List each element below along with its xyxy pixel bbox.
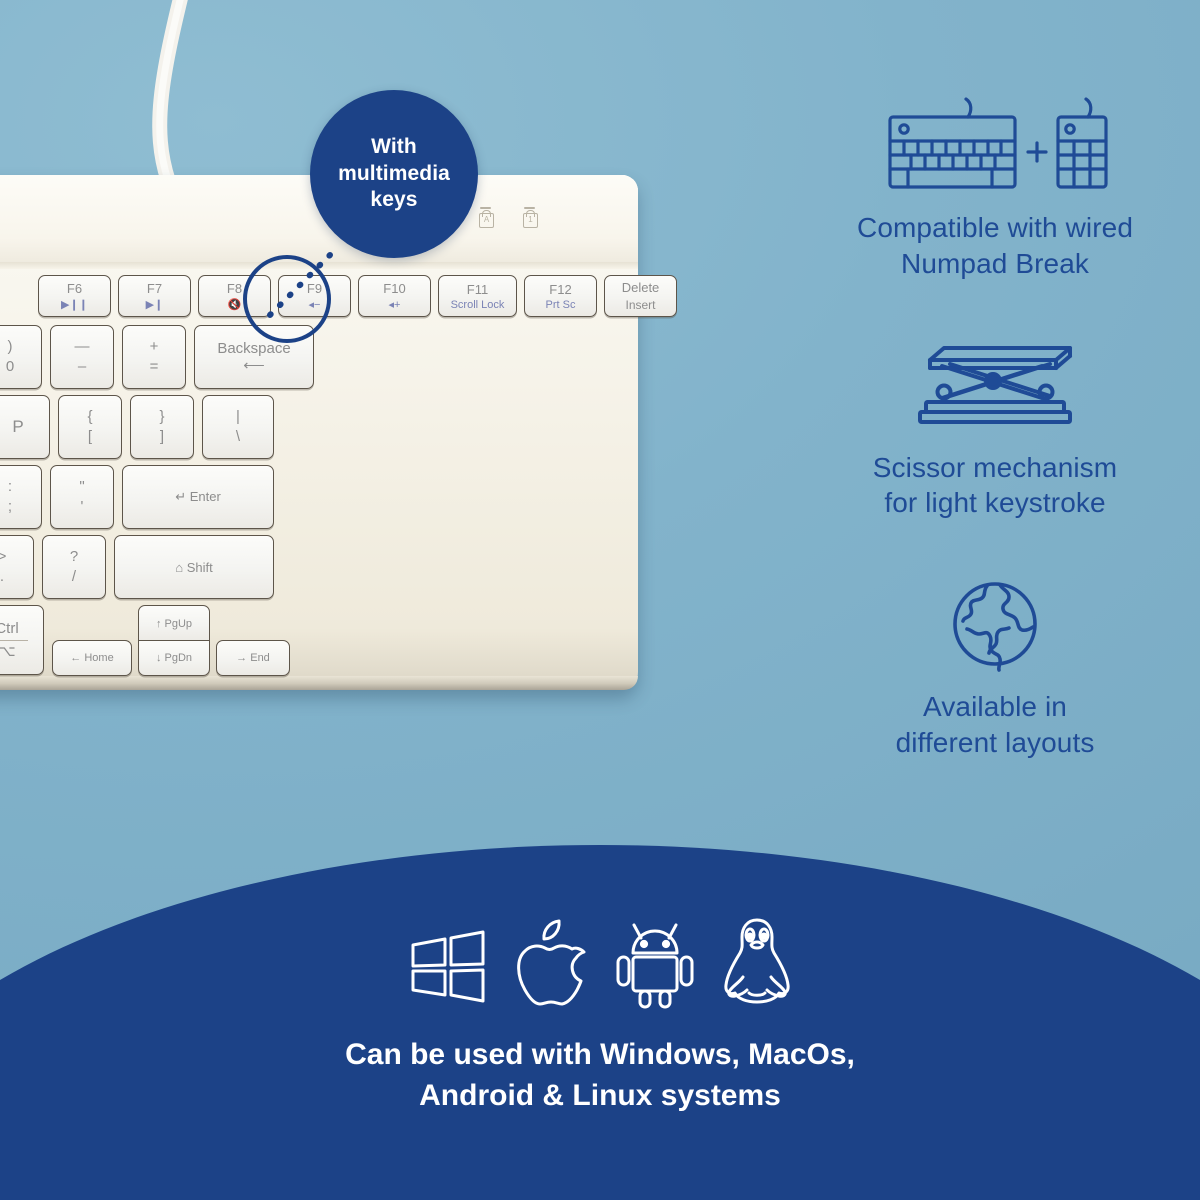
key-brace-right: } [159, 408, 164, 425]
windows-icon [405, 923, 491, 1009]
feature-2-line-2: for light keystroke [884, 487, 1105, 518]
key-equals-bottom: = [150, 358, 159, 375]
key-apostrophe-label: ' [81, 498, 84, 515]
key-pgdn[interactable]: ↓ PgDn [138, 640, 210, 676]
key-shift-label: ⌂ Shift [175, 560, 212, 575]
key-p[interactable]: P [0, 395, 50, 459]
key-brace-left: { [87, 408, 92, 425]
key-plus-top: + [150, 338, 159, 355]
key-f10-label: F10 [383, 281, 405, 296]
key-f6-sub: ▶❙❙ [61, 298, 88, 311]
key-enter[interactable]: ↵ Enter [122, 465, 274, 529]
key-backspace-arrow: ⟵ [243, 358, 265, 374]
key-end-label: → End [236, 652, 270, 664]
key-bracket-left[interactable]: {[ [58, 395, 122, 459]
f9-highlight-circle [243, 255, 331, 343]
badge-line-2: multimedia [338, 162, 450, 185]
badge-line-1: With [371, 135, 417, 158]
key-pipe-label: | [236, 408, 240, 425]
key-p-label: P [12, 418, 23, 436]
android-icon [615, 919, 695, 1009]
banner-line-2: Android & Linux systems [419, 1079, 781, 1112]
key-f6[interactable]: F6 ▶❙❙ [38, 275, 111, 317]
key-colon-label: : [8, 478, 12, 495]
key-period[interactable]: >. [0, 535, 34, 599]
key-pgup-label: ↑ PgUp [156, 618, 192, 630]
key-slash-label: / [72, 568, 76, 585]
key-equals[interactable]: += [122, 325, 186, 389]
num-lock-led: 1 [522, 207, 538, 229]
key-0[interactable]: )0 [0, 325, 42, 389]
key-f12[interactable]: F12 Prt Sc [524, 275, 597, 317]
key-slash[interactable]: ?/ [42, 535, 106, 599]
product-feature-graphic: A 1 F6 ▶❙❙ F7 ▶❙ F8 🔇 F9 ◂− F10 ◂+ [0, 0, 1200, 1200]
key-f7-label: F7 [147, 281, 162, 296]
feature-compatible-numpad: Compatible with wired Numpad Break [790, 80, 1200, 282]
key-minus[interactable]: —– [50, 325, 114, 389]
caps-lock-led-glyph: A [479, 213, 494, 228]
key-f6-label: F6 [67, 281, 82, 296]
os-icon-row [0, 915, 1200, 1009]
key-ctrl-label: Ctrl [0, 621, 19, 637]
key-period-label: . [0, 568, 4, 585]
key-bracket-right-label: ] [160, 428, 164, 445]
feature-scissor-mechanism: Scissor mechanism for light keystroke [790, 320, 1200, 522]
key-f11-label: F11 [467, 282, 488, 297]
key-minus-bottom: – [78, 358, 86, 375]
key-end[interactable]: → End [216, 640, 290, 676]
key-delete-label: Delete [622, 280, 660, 295]
feature-list: Compatible with wired Numpad Break [790, 80, 1200, 799]
feature-layouts: Available in different layouts [790, 559, 1200, 761]
key-insert-label: Insert [625, 298, 655, 312]
badge-line-3: keys [370, 188, 417, 211]
key-f12-sub: Prt Sc [546, 299, 576, 311]
key-semicolon-label: ; [8, 498, 12, 515]
key-doublequote-label: " [79, 478, 84, 495]
keyboard-bottom-edge [0, 676, 638, 690]
key-0-top: ) [8, 338, 13, 355]
key-bracket-right[interactable]: }] [130, 395, 194, 459]
key-ctrl-option[interactable]: Ctrl ⌥ [0, 605, 44, 675]
key-pgdn-label: ↓ PgDn [156, 652, 192, 664]
feature-2-line-1: Scissor mechanism [873, 452, 1117, 483]
apple-icon [515, 917, 591, 1009]
key-f12-label: F12 [549, 282, 571, 297]
caps-lock-led: A [478, 207, 494, 229]
key-f11[interactable]: F11 Scroll Lock [438, 275, 517, 317]
feature-1-line-2: Numpad Break [901, 248, 1089, 279]
key-home-label: ← Home [70, 652, 113, 664]
key-bracket-left-label: [ [88, 428, 92, 445]
key-f10[interactable]: F10 ◂+ [358, 275, 431, 317]
key-f10-sub: ◂+ [389, 298, 401, 311]
key-backslash-label: \ [236, 428, 240, 445]
key-f11-sub: Scroll Lock [451, 299, 505, 311]
key-delete-insert[interactable]: Delete Insert [604, 275, 677, 317]
key-enter-label: ↵ Enter [175, 489, 221, 505]
key-backspace-label: Backspace [217, 341, 290, 357]
multimedia-keys-badge: With multimedia keys [310, 90, 478, 258]
feature-3-line-1: Available in [923, 691, 1067, 722]
key-f7[interactable]: F7 ▶❙ [118, 275, 191, 317]
key-option-label: ⌥ [0, 644, 16, 660]
num-lock-led-glyph: 1 [523, 213, 538, 228]
banner-line-1: Can be used with Windows, MacOs, [345, 1038, 855, 1071]
feature-1-line-1: Compatible with wired [857, 212, 1133, 243]
key-backslash[interactable]: |\ [202, 395, 274, 459]
key-question-label: ? [70, 548, 78, 565]
key-quote[interactable]: "' [50, 465, 114, 529]
globe-icon [790, 559, 1200, 689]
key-home[interactable]: ← Home [52, 640, 132, 676]
banner-caption: Can be used with Windows, MacOs, Android… [0, 1035, 1200, 1117]
key-f7-sub: ▶❙ [146, 298, 164, 311]
key-semicolon[interactable]: :; [0, 465, 42, 529]
key-minus-top: — [75, 338, 90, 355]
key-greater-than-label: > [0, 548, 6, 565]
scissor-mechanism-icon [790, 320, 1200, 450]
key-pgup[interactable]: ↑ PgUp [138, 605, 210, 642]
linux-penguin-icon [719, 915, 795, 1009]
key-0-bottom: 0 [6, 358, 14, 375]
feature-3-line-2: different layouts [896, 727, 1095, 758]
key-shift-right[interactable]: ⌂ Shift [114, 535, 274, 599]
keyboard-plus-numpad-icon [790, 80, 1200, 210]
